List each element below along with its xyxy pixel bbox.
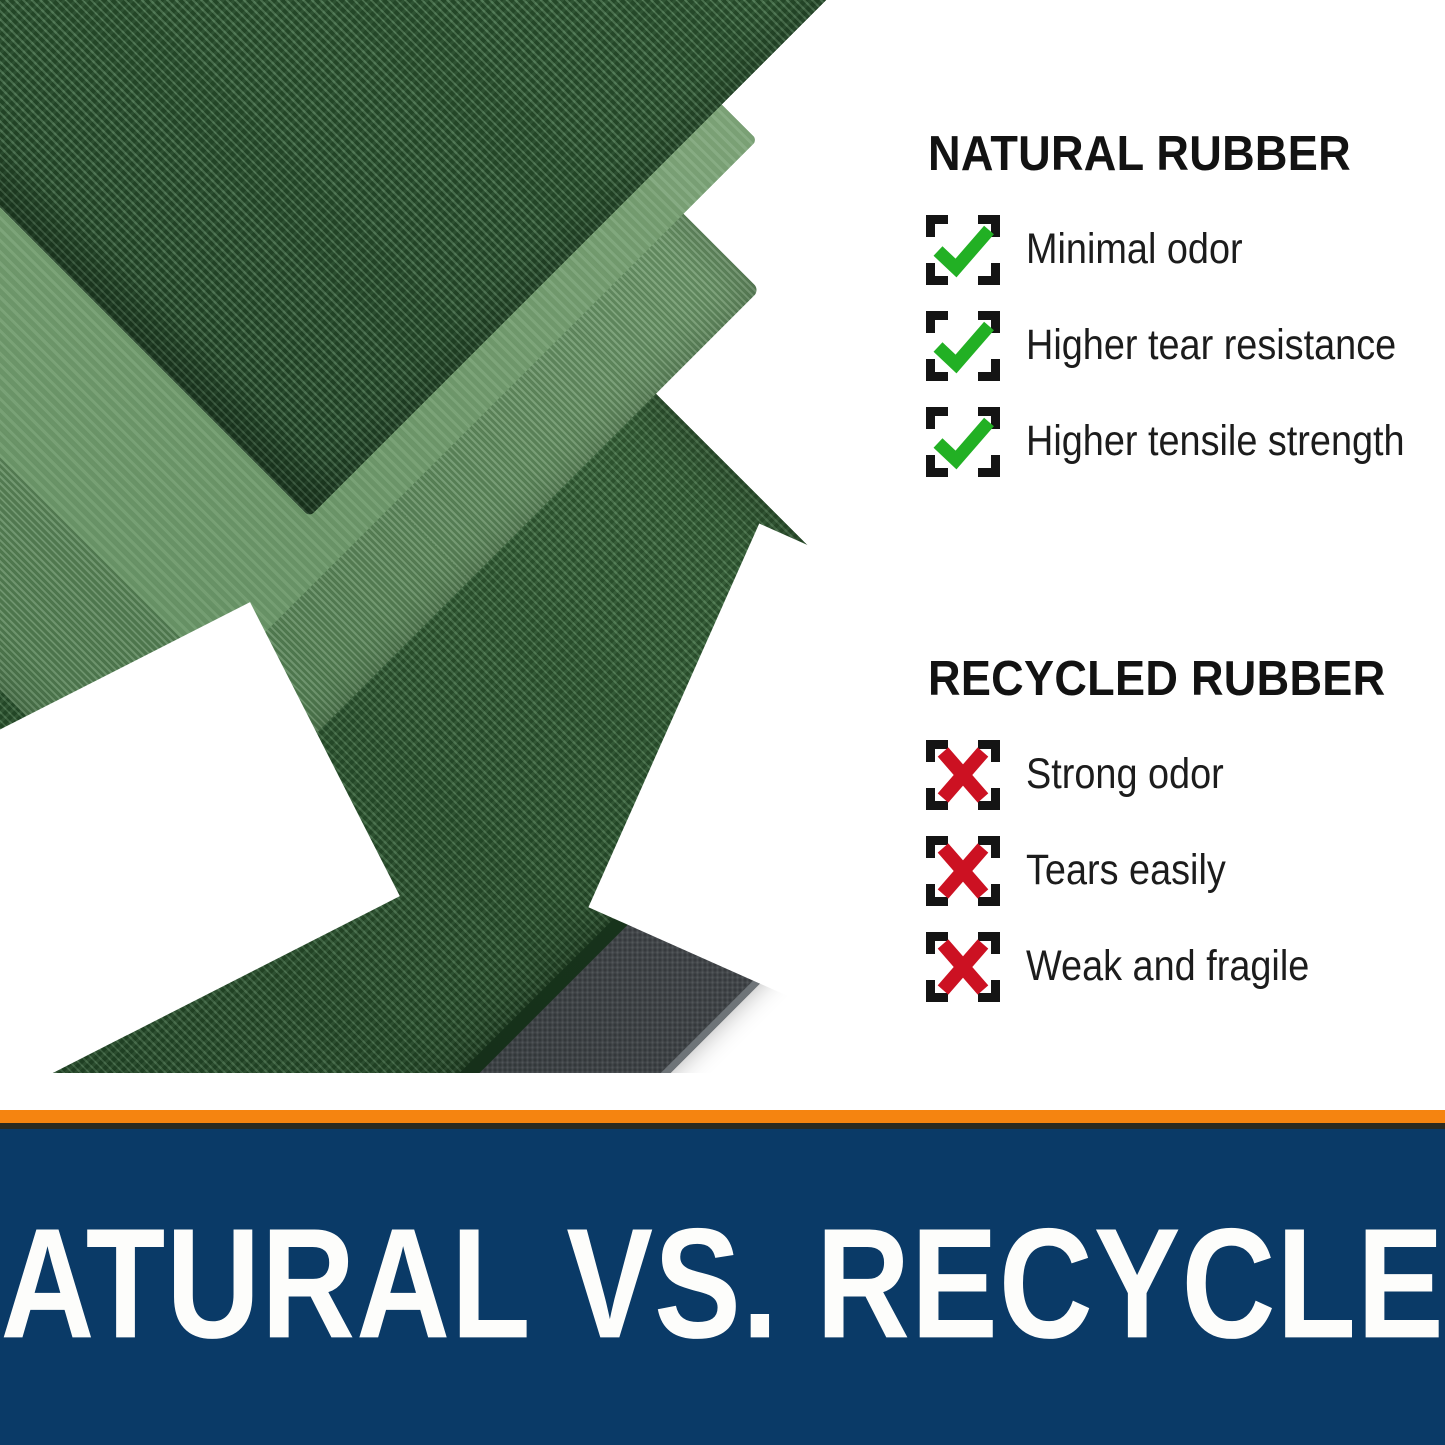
photo-mask-bottom [0,1073,900,1095]
spec-label-natural-3: Higher tensile strength [1026,419,1405,464]
spec-label-natural-2: Higher tear resistance [1026,323,1396,368]
product-photo [0,0,900,1095]
cross-icon [926,932,1000,1002]
check-icon [926,407,1000,477]
spec-item-recycled-1: Strong odor [926,738,1445,812]
spec-label-recycled-2: Tears easily [1026,848,1226,893]
spec-label-recycled-1: Strong odor [1026,752,1224,797]
spec-item-natural-3: Higher tensile strength [926,405,1445,479]
recycled-rubber-heading: RECYCLED RUBBER [928,655,1404,704]
banner-title: NATURAL VS. RECYCLED [0,1205,1445,1369]
bottom-banner: NATURAL VS. RECYCLED [0,1129,1445,1445]
spec-group-natural-rubber: NATURAL RUBBER Minimal odor [900,130,1445,501]
spec-item-natural-2: Higher tear resistance [926,309,1445,383]
spec-label-recycled-3: Weak and fragile [1026,944,1309,989]
spec-label-natural-1: Minimal odor [1026,227,1243,272]
spec-item-recycled-3: Weak and fragile [926,930,1445,1004]
specs-column: NATURAL RUBBER Minimal odor [900,0,1445,1110]
spec-item-recycled-2: Tears easily [926,834,1445,908]
spec-group-recycled-rubber: RECYCLED RUBBER Strong odor [900,655,1445,1026]
check-icon [926,311,1000,381]
orange-accent-stripe [0,1110,1445,1123]
infographic-page: NATURAL RUBBER Minimal odor [0,0,1445,1445]
top-content-area: NATURAL RUBBER Minimal odor [0,0,1445,1110]
cross-icon [926,836,1000,906]
spec-item-natural-1: Minimal odor [926,213,1445,287]
cross-icon [926,740,1000,810]
natural-rubber-heading: NATURAL RUBBER [928,130,1404,179]
check-icon [926,215,1000,285]
